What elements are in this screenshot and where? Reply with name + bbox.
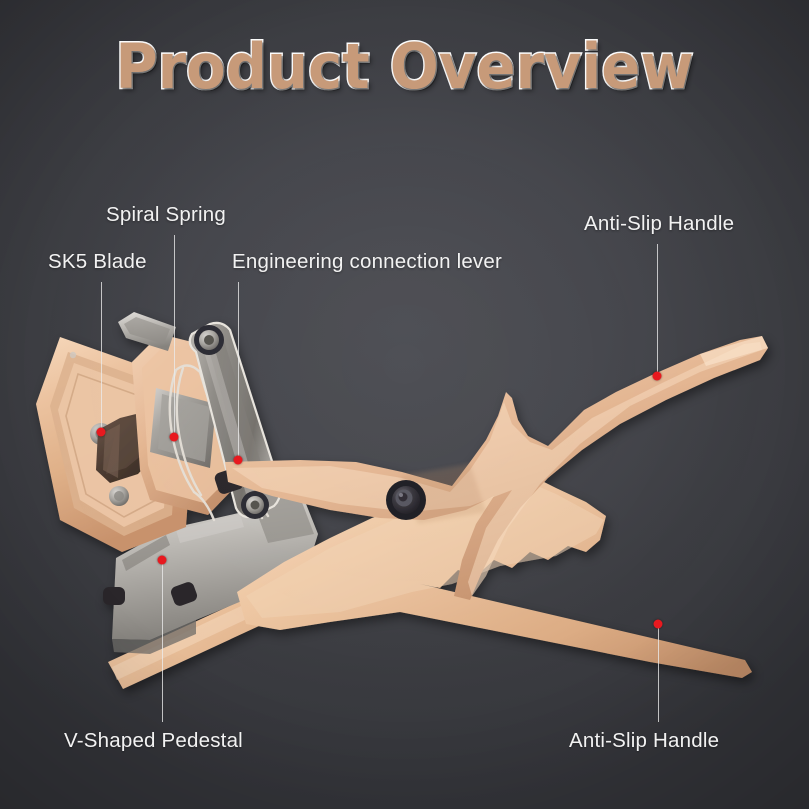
leader-line-engineering-connection-lever <box>238 282 239 458</box>
callout-label-spiral-spring: Spiral Spring <box>106 203 226 227</box>
callout-label-engineering-connection-lever: Engineering connection lever <box>232 250 502 274</box>
callout-label-anti-slip-handle-bottom: Anti-Slip Handle <box>569 729 719 753</box>
callout-dot-spiral-spring <box>170 433 179 442</box>
leader-line-anti-slip-handle-bottom <box>658 626 659 722</box>
callout-label-v-shaped-pedestal: V-Shaped Pedestal <box>64 729 243 753</box>
leader-line-spiral-spring <box>174 235 175 435</box>
callout-dot-engineering-connection-lever <box>234 456 243 465</box>
callout-dot-sk5-blade <box>97 428 106 437</box>
callout-dot-anti-slip-handle-top <box>653 372 662 381</box>
product-illustration <box>0 0 809 809</box>
callout-dot-v-shaped-pedestal <box>158 556 167 565</box>
pivot-bolt <box>386 480 426 520</box>
callout-label-sk5-blade: SK5 Blade <box>48 250 147 274</box>
leader-line-sk5-blade <box>101 282 102 430</box>
leader-line-anti-slip-handle-top <box>657 244 658 374</box>
steel-top-tang <box>118 312 176 351</box>
callout-label-anti-slip-handle-top: Anti-Slip Handle <box>584 212 734 236</box>
callout-dot-anti-slip-handle-bottom <box>654 620 663 629</box>
product-overview-image: Product Overview SK5 Blade Spiral Spring… <box>0 0 809 809</box>
leader-line-v-shaped-pedestal <box>162 562 163 722</box>
page-title: Product Overview <box>28 36 780 98</box>
